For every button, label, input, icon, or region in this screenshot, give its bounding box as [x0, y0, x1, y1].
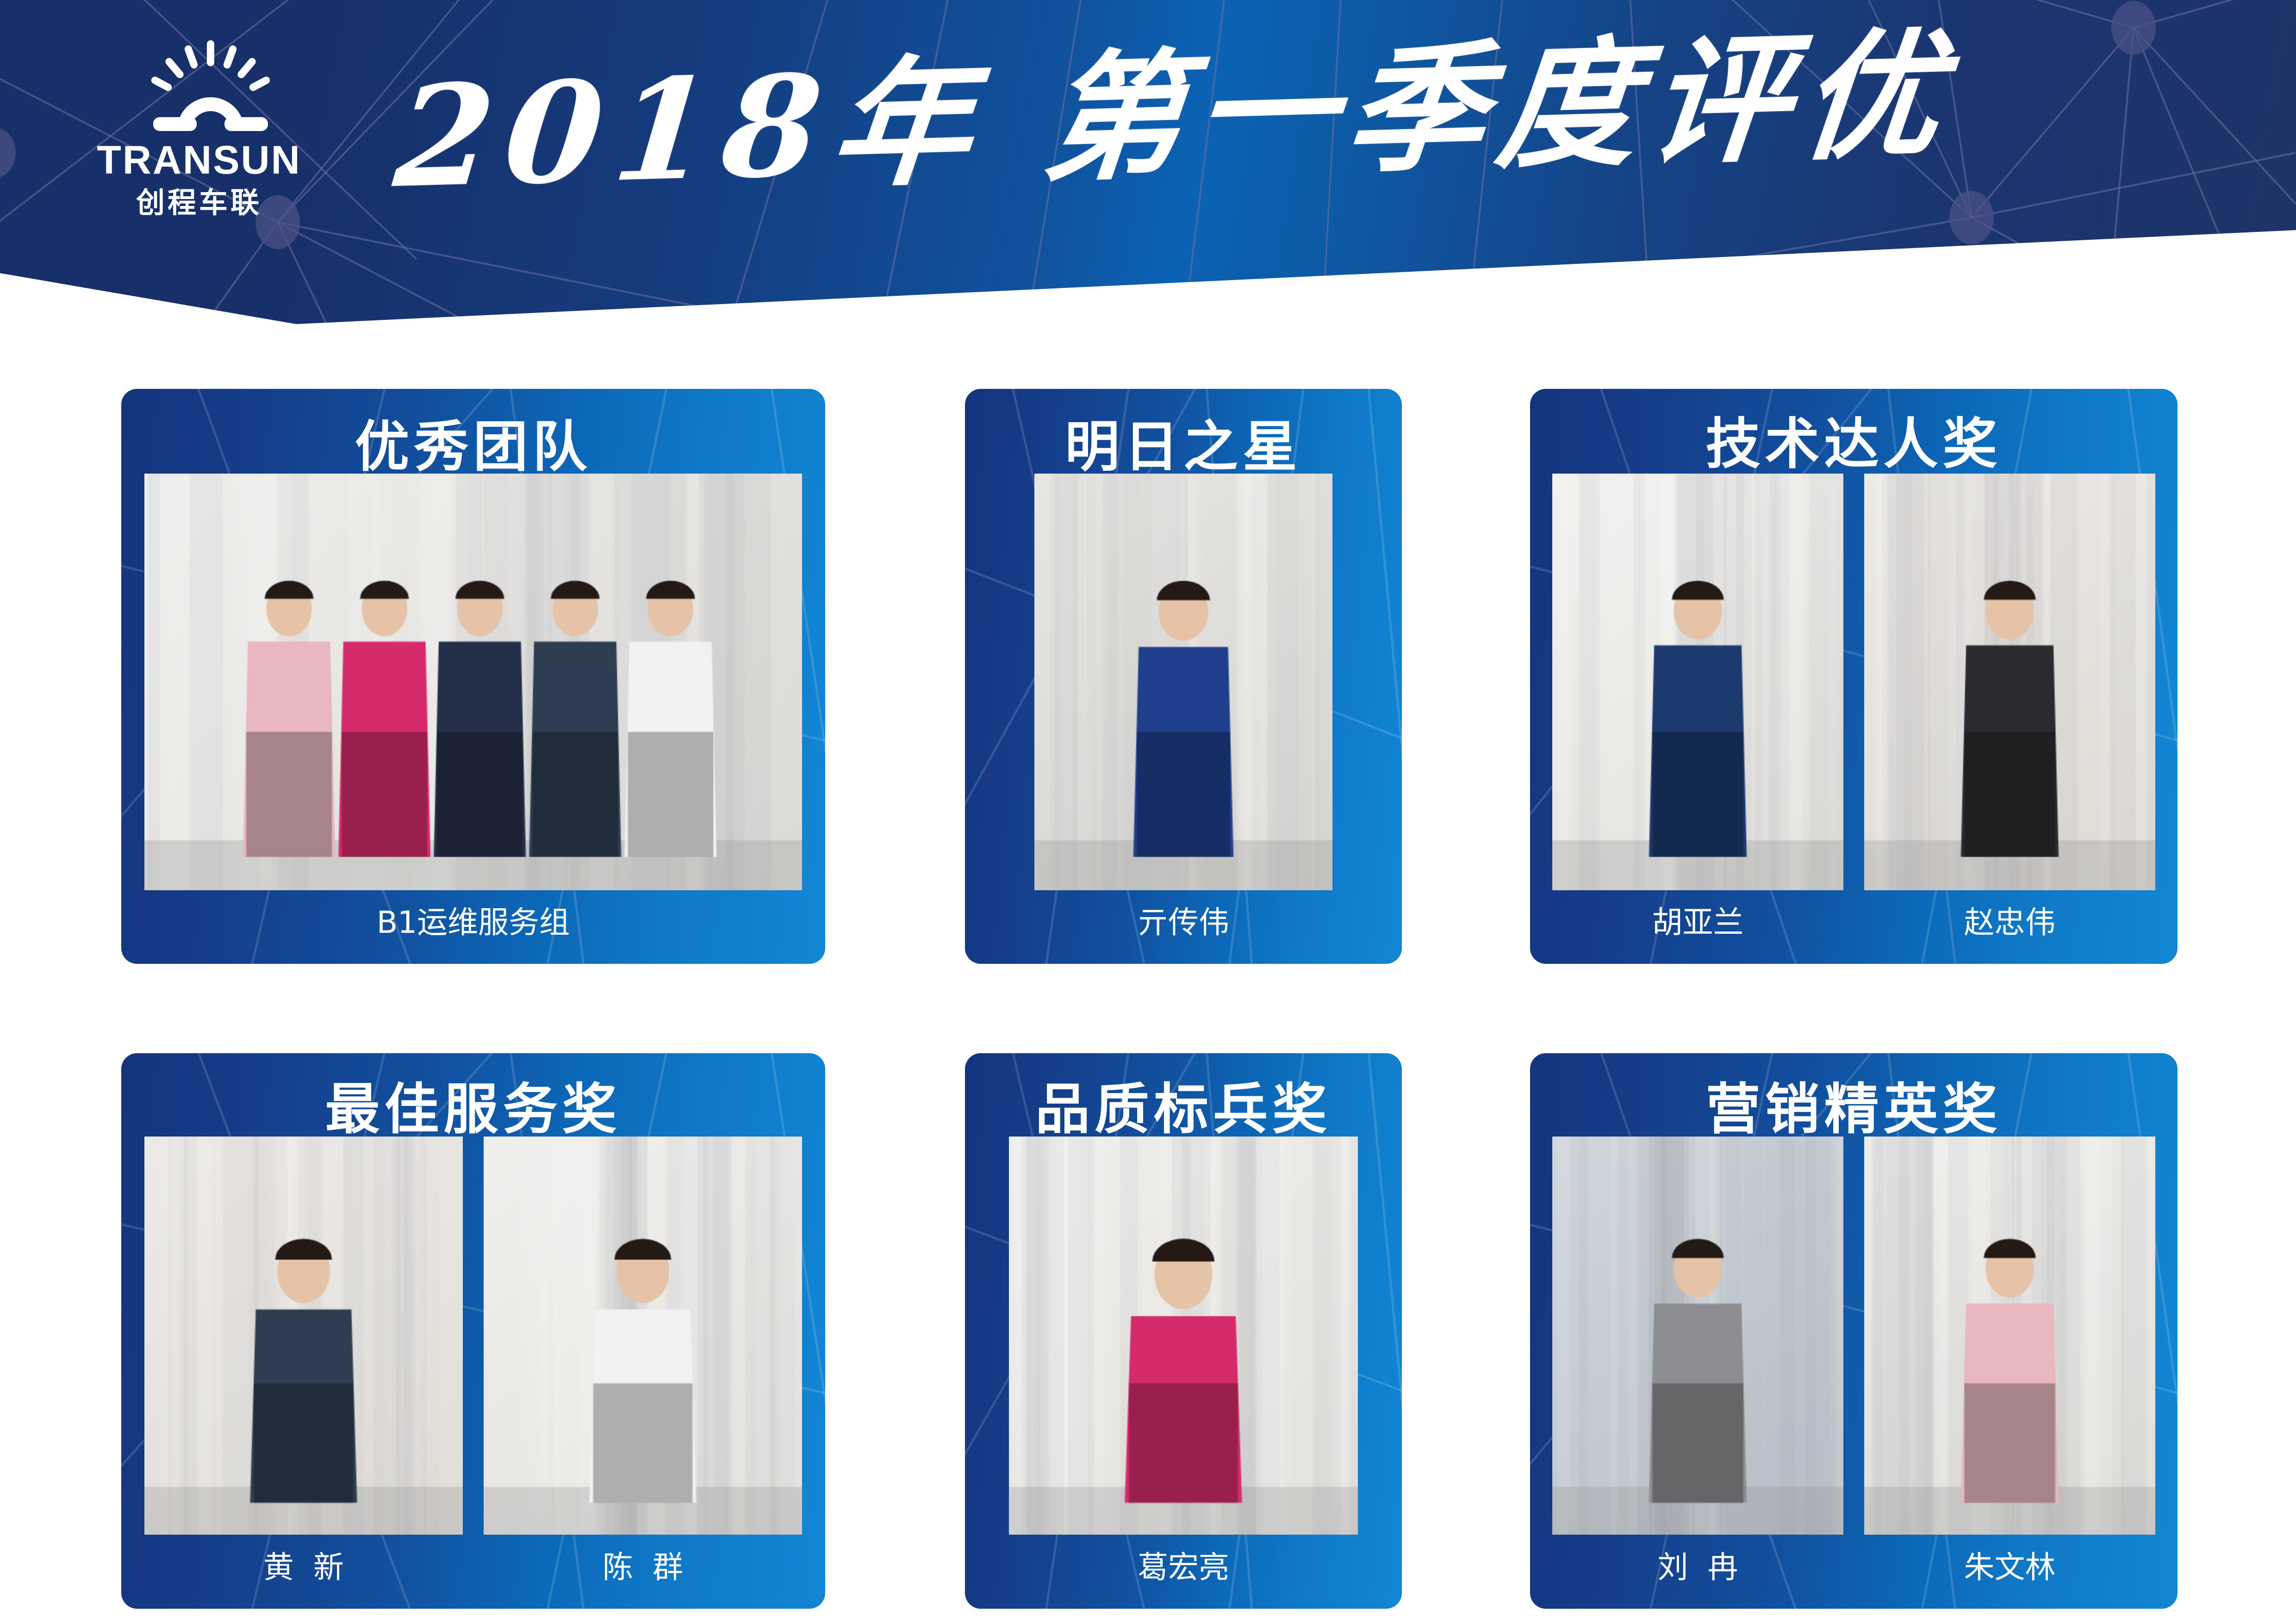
- card-caption-row: 亓传伟: [1034, 907, 1332, 938]
- award-card: 品质标兵奖葛宏亮: [965, 1053, 1402, 1609]
- photo-caption: 赵忠伟: [1864, 907, 2155, 938]
- photo-caption: 黄 新: [144, 1552, 463, 1583]
- card-caption-row: 胡亚兰赵忠伟: [1552, 907, 2155, 938]
- card-title: 品质标兵奖: [965, 1082, 1402, 1137]
- card-photo-row: [144, 474, 802, 890]
- award-photo: [1552, 474, 1843, 890]
- card-caption-row: 刘 冉朱文林: [1552, 1552, 2155, 1583]
- award-photo: [484, 1137, 802, 1535]
- card-title: 营销精英奖: [1530, 1082, 2178, 1137]
- award-card: 最佳服务奖黄 新陈 群: [121, 1053, 825, 1609]
- award-photo: [1864, 1137, 2155, 1535]
- photo-caption: 亓传伟: [1034, 907, 1332, 938]
- photo-caption: 朱文林: [1864, 1552, 2155, 1583]
- award-photo: [1009, 1137, 1358, 1535]
- photo-caption: B1运维服务组: [144, 907, 802, 938]
- award-photo: [1864, 474, 2155, 890]
- award-photo: [144, 1137, 463, 1535]
- award-photo: [144, 474, 802, 890]
- award-card: 技术达人奖胡亚兰赵忠伟: [1530, 389, 2178, 964]
- award-photo: [1034, 474, 1332, 890]
- card-title: 优秀团队: [121, 419, 825, 474]
- card-title: 最佳服务奖: [121, 1082, 825, 1137]
- photo-caption: 葛宏亮: [1009, 1552, 1358, 1583]
- award-card-grid: 优秀团队B1运维服务组明日之星亓传伟技术达人奖胡亚兰赵忠伟最佳服务奖黄 新陈 群…: [0, 0, 2296, 1624]
- photo-caption: 胡亚兰: [1552, 907, 1843, 938]
- card-caption-row: 葛宏亮: [1009, 1552, 1358, 1583]
- award-card: 优秀团队B1运维服务组: [121, 389, 825, 964]
- award-photo: [1552, 1137, 1843, 1535]
- card-photo-row: [1552, 474, 2155, 890]
- card-title: 明日之星: [965, 419, 1402, 474]
- card-photo-row: [1552, 1137, 2155, 1535]
- card-photo-row: [1034, 474, 1332, 890]
- card-photo-row: [144, 1137, 802, 1535]
- photo-caption: 刘 冉: [1552, 1552, 1843, 1583]
- card-caption-row: B1运维服务组: [144, 907, 802, 938]
- award-card: 营销精英奖刘 冉朱文林: [1530, 1053, 2178, 1609]
- card-title: 技术达人奖: [1530, 417, 2178, 471]
- award-card: 明日之星亓传伟: [965, 389, 1402, 964]
- photo-caption: 陈 群: [484, 1552, 802, 1583]
- card-caption-row: 黄 新陈 群: [144, 1552, 802, 1583]
- card-photo-row: [1009, 1137, 1358, 1535]
